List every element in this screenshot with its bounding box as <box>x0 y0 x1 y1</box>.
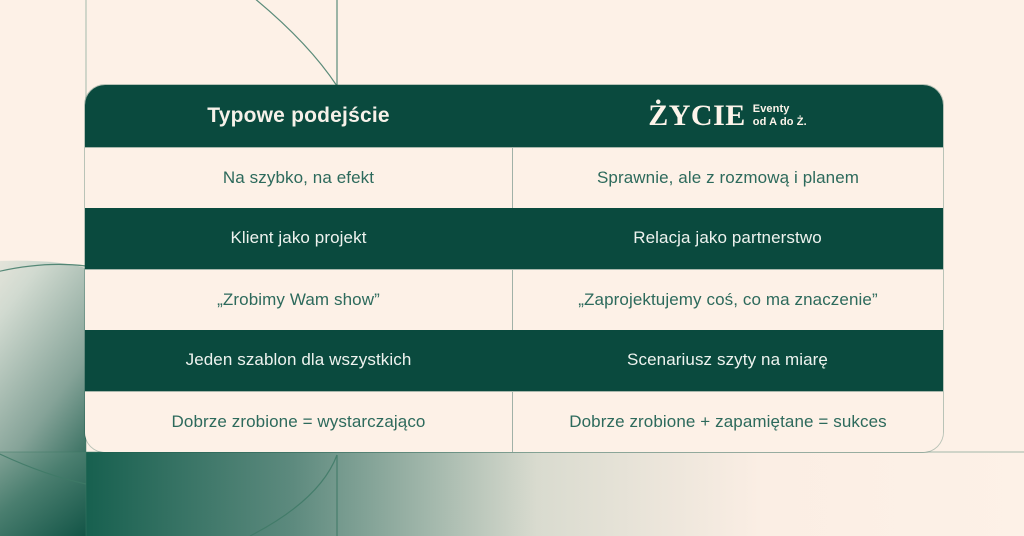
zycie-logo: ŻYCIE Eventy od A do Ż. <box>648 101 806 131</box>
bottom-gradient-band <box>86 452 1024 536</box>
comparison-table-card: Typowe podejście ŻYCIE Eventy od A do Ż.… <box>85 85 943 452</box>
table-row: Jeden szablon dla wszystkich Scenariusz … <box>85 330 943 391</box>
cell-zycie: Sprawnie, ale z rozmową i planem <box>512 148 943 208</box>
logo-tagline-line2: od A do Ż. <box>753 116 807 129</box>
cell-typical: Na szybko, na efekt <box>85 148 512 208</box>
cell-zycie: Relacja jako partnerstwo <box>512 208 943 269</box>
cell-typical: Dobrze zrobione = wystarczająco <box>85 392 512 452</box>
table-row: „Zrobimy Wam show” „Zaprojektujemy coś, … <box>85 269 943 330</box>
bottom-left-green-block <box>0 452 86 536</box>
header-cell-zycie: ŻYCIE Eventy od A do Ż. <box>512 85 943 147</box>
table-row: Dobrze zrobione = wystarczająco Dobrze z… <box>85 391 943 452</box>
header-label-typical: Typowe podejście <box>207 103 390 128</box>
cell-typical: Klient jako projekt <box>85 208 512 269</box>
header-cell-typical: Typowe podejście <box>85 85 512 147</box>
table-header-row: Typowe podejście ŻYCIE Eventy od A do Ż. <box>85 85 943 147</box>
cell-zycie: Dobrze zrobione + zapamiętane = sukces <box>512 392 943 452</box>
table-row: Na szybko, na efekt Sprawnie, ale z rozm… <box>85 147 943 208</box>
table-row: Klient jako projekt Relacja jako partner… <box>85 208 943 269</box>
cell-zycie: „Zaprojektujemy coś, co ma znaczenie” <box>512 270 943 330</box>
cell-typical: Jeden szablon dla wszystkich <box>85 330 512 391</box>
logo-wordmark: ŻYCIE <box>648 101 746 131</box>
left-gradient-panel <box>0 261 86 455</box>
cell-typical: „Zrobimy Wam show” <box>85 270 512 330</box>
logo-tagline: Eventy od A do Ż. <box>753 101 807 129</box>
logo-tagline-line1: Eventy <box>753 103 807 116</box>
cell-zycie: Scenariusz szyty na miarę <box>512 330 943 391</box>
